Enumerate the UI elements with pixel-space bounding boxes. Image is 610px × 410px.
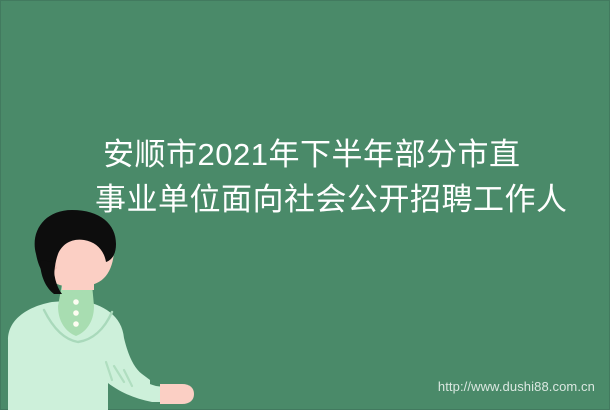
headline-line-2: 事业单位面向社会公开招聘工作人	[92, 177, 604, 222]
watermark-url: http://www.dushi88.com.cn	[438, 379, 595, 394]
person-illustration	[0, 210, 200, 410]
headline-line-1: 安顺市2021年下半年部分市直	[92, 132, 604, 177]
banner-image: 安顺市2021年下半年部分市直 事业单位面向社会公开招聘工作人 http://w…	[0, 0, 610, 410]
button-group	[73, 299, 79, 327]
page-title: 安顺市2021年下半年部分市直 事业单位面向社会公开招聘工作人	[92, 132, 604, 222]
hand-shape	[160, 384, 194, 404]
